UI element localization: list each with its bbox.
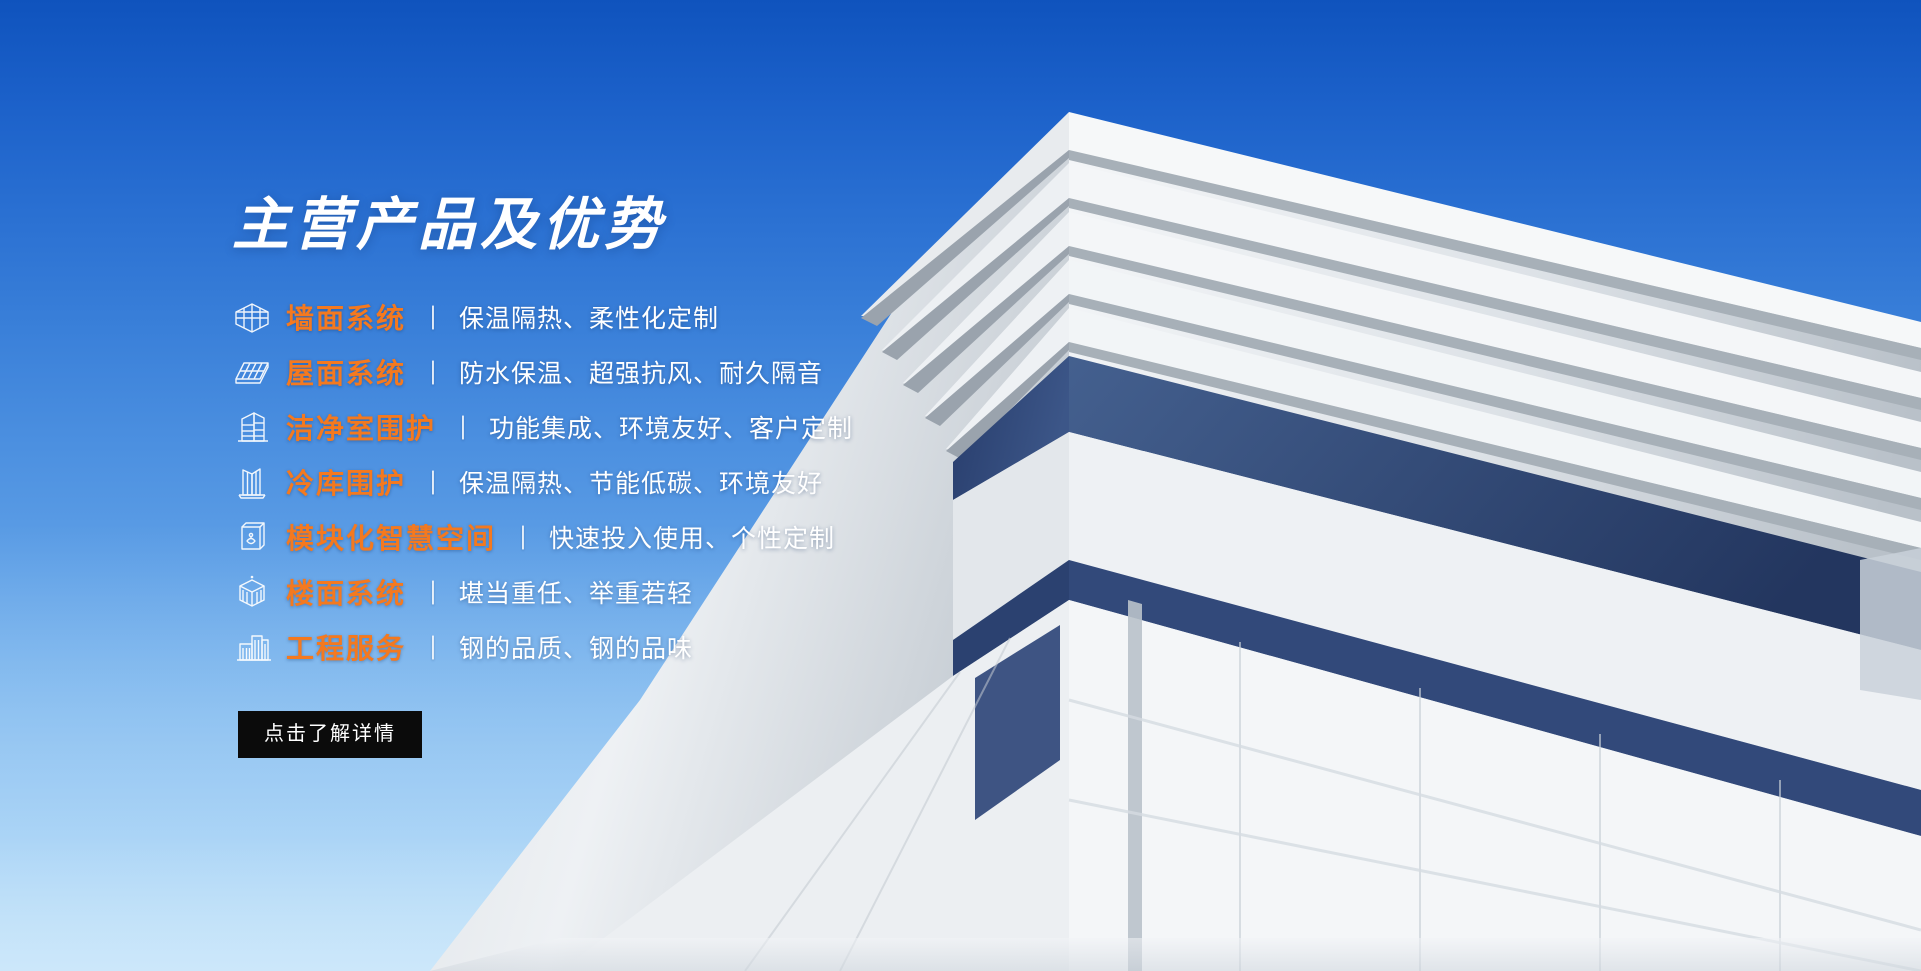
list-item-separator: 丨 — [448, 409, 477, 445]
list-item-separator: 丨 — [418, 299, 447, 335]
learn-more-button[interactable]: 点击了解详情 — [238, 711, 422, 758]
engineering-service-icon — [232, 627, 286, 667]
list-item[interactable]: 模块化智慧空间 丨 快速投入使用、个性定制 — [232, 510, 1052, 565]
list-item-separator: 丨 — [418, 464, 447, 500]
cleanroom-icon — [232, 407, 286, 447]
list-item-desc: 保温隔热、柔性化定制 — [459, 299, 719, 335]
list-item-separator: 丨 — [508, 519, 537, 555]
list-item-label: 楼面系统 — [286, 572, 406, 612]
list-item-desc: 钢的品质、钢的品味 — [459, 629, 693, 665]
list-item-separator: 丨 — [418, 354, 447, 390]
list-item-label: 墙面系统 — [286, 297, 406, 337]
list-item-desc: 保温隔热、节能低碳、环境友好 — [459, 464, 823, 500]
list-item-desc: 防水保温、超强抗风、耐久隔音 — [459, 354, 823, 390]
cold-storage-icon — [232, 462, 286, 502]
list-item[interactable]: 洁净室围护 丨 功能集成、环境友好、客户定制 — [232, 400, 1052, 455]
page-title: 主营产品及优势 — [232, 196, 1052, 256]
list-item[interactable]: 冷库围护 丨 保温隔热、节能低碳、环境友好 — [232, 455, 1052, 510]
list-item[interactable]: 墙面系统 丨 保温隔热、柔性化定制 — [232, 290, 1052, 345]
list-item-separator: 丨 — [418, 629, 447, 665]
list-item[interactable]: 楼面系统 丨 堪当重任、举重若轻 — [232, 565, 1052, 620]
list-item-label: 屋面系统 — [286, 352, 406, 392]
list-item[interactable]: 工程服务 丨 钢的品质、钢的品味 — [232, 620, 1052, 675]
roof-system-icon — [232, 352, 286, 392]
wall-system-icon — [232, 297, 286, 337]
content-panel: 主营产品及优势 墙面系统 丨 保温隔热、柔性化定制 — [232, 196, 1052, 758]
list-item-label: 洁净室围护 — [286, 407, 436, 447]
list-item[interactable]: 屋面系统 丨 防水保温、超强抗风、耐久隔音 — [232, 345, 1052, 400]
list-item-label: 模块化智慧空间 — [286, 517, 496, 557]
modular-space-icon — [232, 517, 286, 557]
hero-banner: 主营产品及优势 墙面系统 丨 保温隔热、柔性化定制 — [0, 0, 1921, 971]
list-item-desc: 快速投入使用、个性定制 — [549, 519, 835, 555]
product-list: 墙面系统 丨 保温隔热、柔性化定制 屋面系统 丨 — [232, 290, 1052, 675]
list-item-label: 冷库围护 — [286, 462, 406, 502]
floor-system-icon — [232, 572, 286, 612]
list-item-label: 工程服务 — [286, 627, 406, 667]
list-item-separator: 丨 — [418, 574, 447, 610]
list-item-desc: 功能集成、环境友好、客户定制 — [489, 409, 853, 445]
list-item-desc: 堪当重任、举重若轻 — [459, 574, 693, 610]
